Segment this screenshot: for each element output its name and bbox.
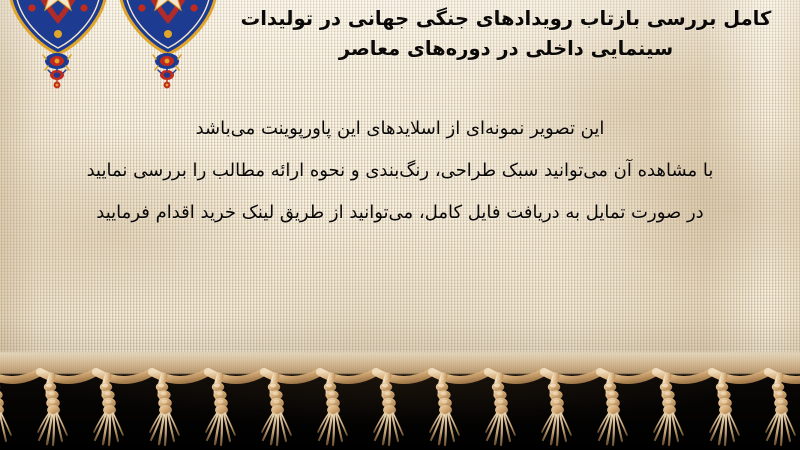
body-line-3: در صورت تمایل به دریافت فایل کامل، می‌تو… (0, 192, 800, 234)
body-line-1: این تصویر نمونه‌ای از اسلایدهای این پاور… (0, 108, 800, 150)
body-line-2: با مشاهده آن می‌توانید سبک طراحی، رنگ‌بن… (0, 150, 800, 192)
presentation-slide: کامل بررسی بازتاب رویدادهای جنگی جهانی د… (0, 0, 800, 450)
fringe-tassels-svg (0, 352, 800, 450)
slide-title: کامل بررسی بازتاب رویدادهای جنگی جهانی د… (226, 4, 786, 64)
persian-carpet-medallion (116, 0, 220, 54)
slide-title-line-2: سینمایی داخلی در دوره‌های معاصر (226, 34, 786, 64)
carpet-pendant-tassel (42, 52, 72, 92)
persian-carpet-medallion (6, 0, 110, 54)
knotted-carpet-fringe (0, 352, 800, 450)
slide-title-line-1: کامل بررسی بازتاب رویدادهای جنگی جهانی د… (226, 4, 786, 34)
carpet-pendant-tassel (152, 52, 182, 92)
slide-body: این تصویر نمونه‌ای از اسلایدهای این پاور… (0, 108, 800, 234)
